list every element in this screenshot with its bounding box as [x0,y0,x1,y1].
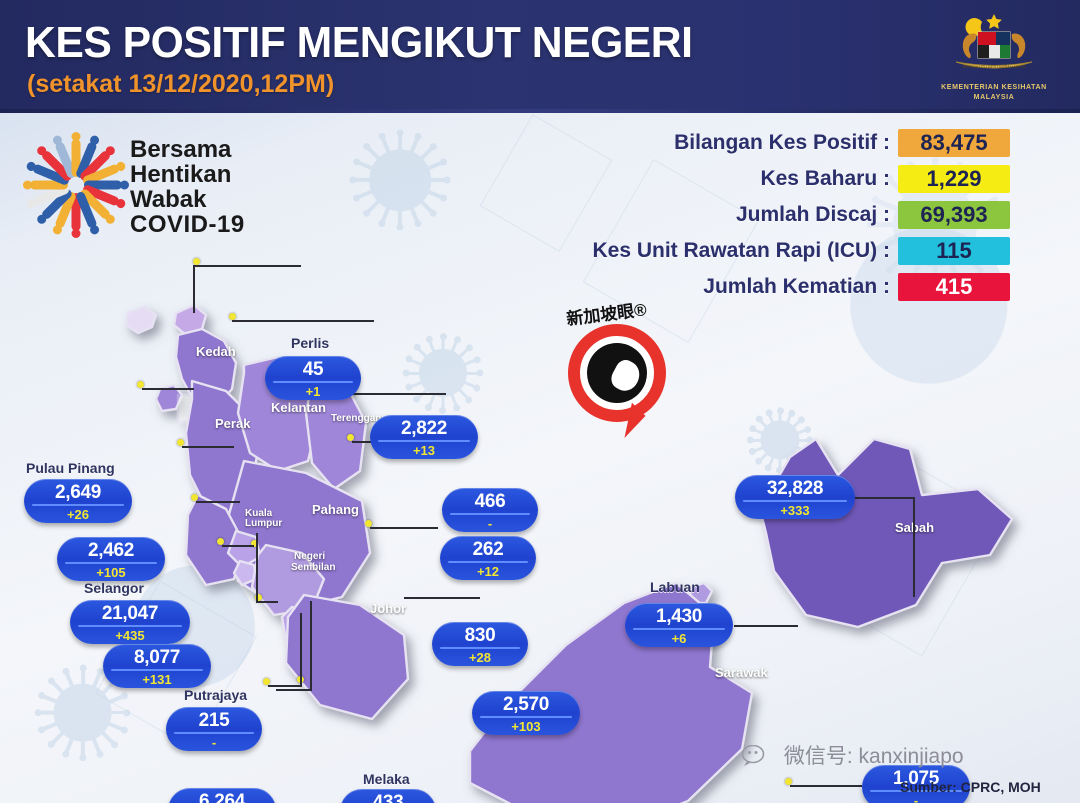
callout-name-perlis: Perlis [291,335,329,351]
svg-text:BERSEKUTU BERTAMBAH MUTU: BERSEKUTU BERTAMBAH MUTU [963,64,1026,69]
header-banner: KES POSITIF MENGIKUT NEGERI (setakat 13/… [0,0,1080,113]
callout-name-selangor: Selangor [84,580,144,596]
callout-name-labuan: Labuan [650,579,700,595]
city-dot [137,381,144,388]
city-dot [191,494,198,501]
callout-badge-terengganu[interactable]: 262+12 [440,536,536,580]
callout-name-pulau-pinang: Pulau Pinang [26,460,115,476]
ministry-name-line1: KEMENTERIAN KESIHATAN [934,83,1054,92]
callout-delta: +13 [370,442,478,459]
callout-total: 21,047 [70,600,190,625]
city-dot [785,778,792,785]
city-dot [347,434,354,441]
callout-delta: +105 [57,564,165,581]
page-subtitle: (setakat 13/12/2020,12PM) [27,70,334,99]
callout-total: 45 [265,356,361,381]
callout-badge-johor[interactable]: 2,570+103 [472,691,580,735]
page-title: KES POSITIF MENGIKUT NEGERI [25,18,692,68]
callout-delta: - [442,515,538,532]
city-dot [177,439,184,446]
city-dot [217,538,224,545]
callout-total: 1,430 [625,603,733,628]
callout-badge-pahang[interactable]: 830+28 [432,622,528,666]
wechat-icon [742,745,772,773]
city-dot [229,313,236,320]
callout-badge-sabah[interactable]: 32,828+333 [735,475,855,519]
callout-delta: +26 [24,506,132,523]
callout-total: 466 [442,488,538,513]
callout-name-melaka: Melaka [363,771,410,787]
callout-total: 2,462 [57,537,165,562]
sg-eye-glint [607,357,644,396]
callout-total: 8,077 [103,644,211,669]
ministry-name-line2: MALAYSIA [934,93,1054,102]
callout-badge-labuan[interactable]: 1,430+6 [625,603,733,647]
city-dot [365,520,372,527]
callout-delta: +435 [70,627,190,644]
singapore-eye-logo: 新加坡眼® [560,300,685,435]
callout-badge-pulau-pinang[interactable]: 2,649+26 [24,479,132,523]
wechat-handle: 微信号: kanxinjiapo [742,740,964,773]
callout-badge-kelantan[interactable]: 466- [442,488,538,532]
callout-total: 2,822 [370,415,478,440]
callout-badge-melaka[interactable]: 433+7 [340,789,436,803]
callout-delta: - [166,734,262,751]
callout-total: 262 [440,536,536,561]
callout-badge-perlis[interactable]: 45+1 [265,356,361,400]
ministry-crest: BERSEKUTU BERTAMBAH MUTU KEMENTERIAN KES… [934,8,1054,106]
callout-badge-kuala-lumpur[interactable]: 8,077+131 [103,644,211,688]
source-credit: Sumber: CPRC, MOH [900,779,1041,795]
city-dot [263,678,270,685]
callout-badge-perak[interactable]: 2,462+105 [57,537,165,581]
callout-delta: +333 [735,502,855,519]
callout-badge-negeri-sembilan[interactable]: 6,264+29 [168,788,276,803]
infographic-root: KES POSITIF MENGIKUT NEGERI (setakat 13/… [0,0,1080,803]
callout-total: 2,649 [24,479,132,504]
callout-total: 215 [166,707,262,732]
callout-total: 2,570 [472,691,580,716]
callout-badge-kedah[interactable]: 2,822+13 [370,415,478,459]
callout-delta: +6 [625,630,733,647]
callout-delta: +28 [432,649,528,666]
callout-total: 32,828 [735,475,855,500]
coat-of-arms-icon: BERSEKUTU BERTAMBAH MUTU [934,8,1054,82]
callout-badge-selangor[interactable]: 21,047+435 [70,600,190,644]
wechat-text: 微信号: kanxinjiapo [784,745,964,768]
callout-total: 6,264 [168,788,276,803]
sg-eye-pupil-icon [587,343,647,403]
malaysia-map: KedahPerakKelantanTerengganuPahangKualaL… [0,113,1080,803]
callout-name-putrajaya: Putrajaya [184,687,247,703]
callout-delta: +1 [265,383,361,400]
callout-badge-putrajaya[interactable]: 215- [166,707,262,751]
callout-total: 433 [340,789,436,803]
callout-delta: +131 [103,671,211,688]
callout-delta: +12 [440,563,536,580]
callout-total: 830 [432,622,528,647]
callout-delta: +103 [472,718,580,735]
city-dot [193,258,200,265]
